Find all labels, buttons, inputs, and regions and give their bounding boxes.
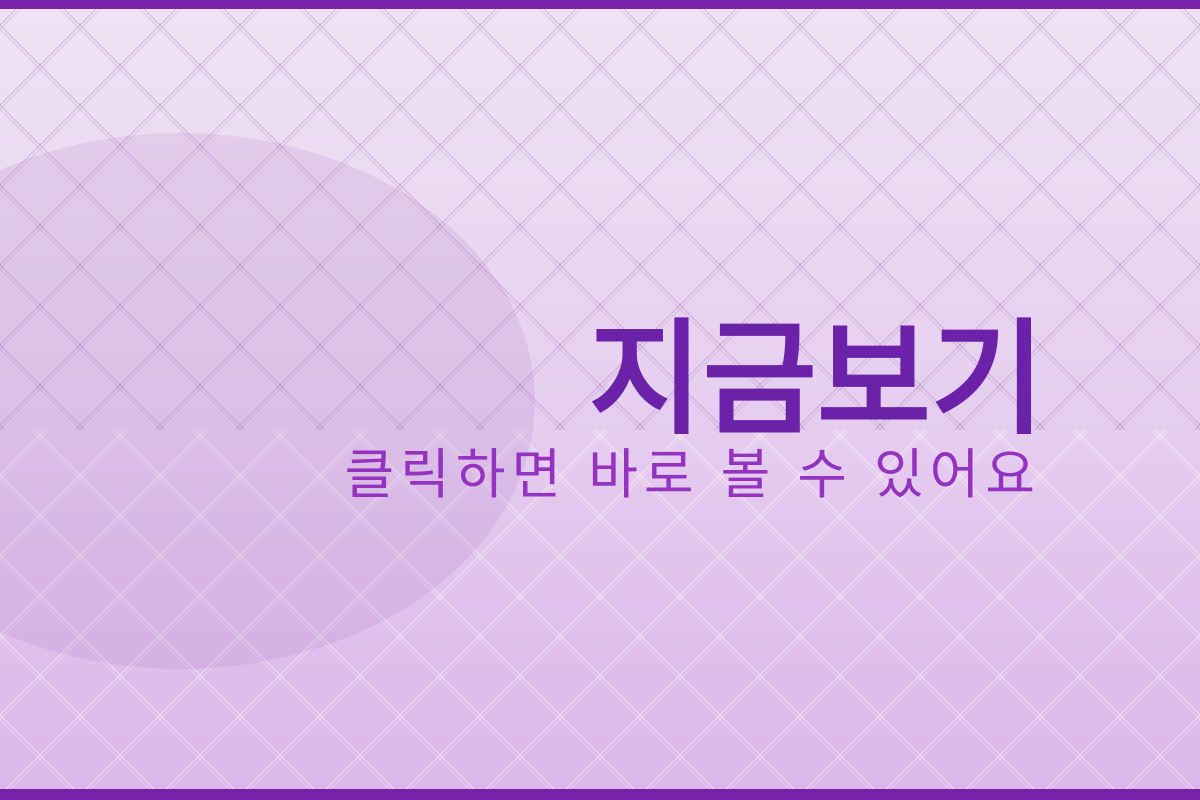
banner-headline: 지금보기 (145, 318, 1045, 442)
accent-bar-bottom (0, 789, 1200, 800)
banner-text-block: 지금보기 클릭하면 바로 볼 수 있어요 (145, 318, 1045, 502)
accent-bar-top (0, 0, 1200, 9)
promo-banner[interactable]: 지금보기 클릭하면 바로 볼 수 있어요 (0, 0, 1200, 800)
banner-subheadline: 클릭하면 바로 볼 수 있어요 (145, 448, 1045, 502)
